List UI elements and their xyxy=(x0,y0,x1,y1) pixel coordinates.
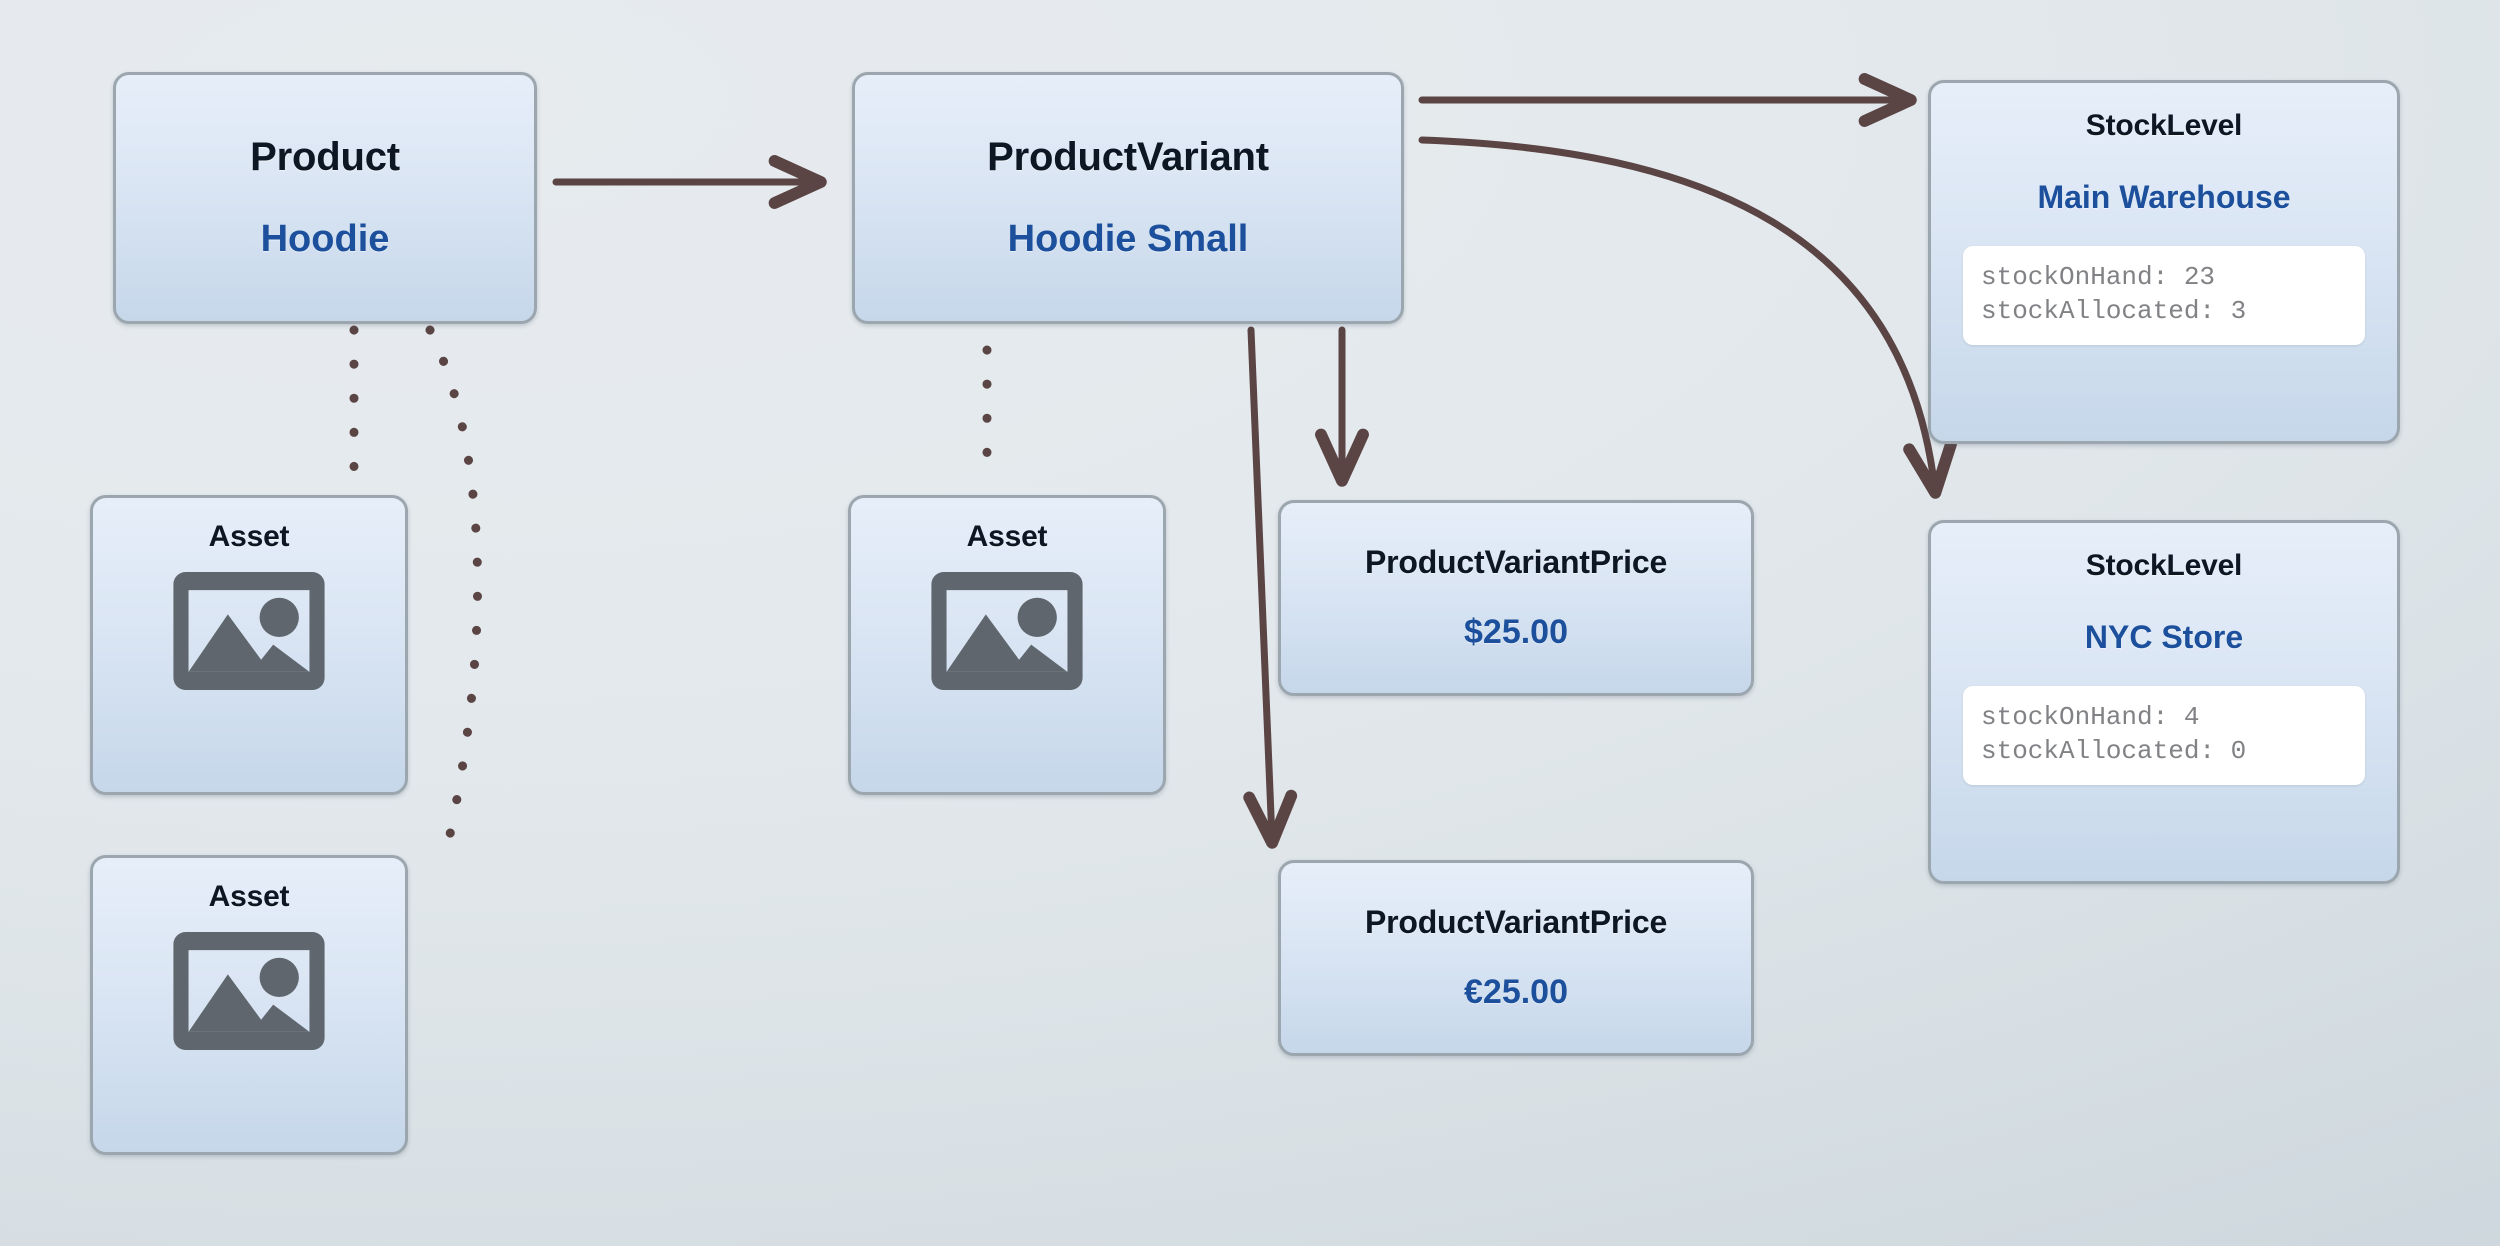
edge-product-to-asset-2 xyxy=(430,330,478,866)
stock-allocated-value: stockAllocated: 3 xyxy=(1981,294,2347,328)
image-placeholder-icon xyxy=(173,566,325,696)
diagram-canvas: Product Hoodie ProductVariant Hoodie Sma… xyxy=(0,0,2500,1246)
node-price-eur[interactable]: ProductVariantPrice €25.00 xyxy=(1278,860,1754,1056)
node-product[interactable]: Product Hoodie xyxy=(113,72,537,324)
image-placeholder-icon xyxy=(931,566,1083,696)
node-asset-product-2[interactable]: Asset xyxy=(90,855,408,1155)
node-price-eur-value: €25.00 xyxy=(1464,973,1568,1012)
node-stock-main-title: StockLevel xyxy=(2086,109,2242,143)
node-asset-variant-1-title: Asset xyxy=(967,520,1048,554)
node-stock-nyc-title: StockLevel xyxy=(2086,549,2242,583)
node-asset-variant-1[interactable]: Asset xyxy=(848,495,1166,795)
node-price-usd[interactable]: ProductVariantPrice $25.00 xyxy=(1278,500,1754,696)
stock-on-hand-value: stockOnHand: 4 xyxy=(1981,700,2347,734)
node-stock-nyc-detail: stockOnHand: 4 stockAllocated: 0 xyxy=(1963,686,2365,785)
stock-allocated-value: stockAllocated: 0 xyxy=(1981,734,2347,768)
image-placeholder-icon xyxy=(173,926,325,1056)
node-product-variant-value: Hoodie Small xyxy=(1008,218,1249,261)
node-product-title: Product xyxy=(250,135,400,180)
node-product-variant-title: ProductVariant xyxy=(987,135,1269,180)
node-asset-product-2-title: Asset xyxy=(209,880,290,914)
node-product-value: Hoodie xyxy=(261,218,390,261)
node-price-usd-title: ProductVariantPrice xyxy=(1365,544,1667,581)
node-stock-main-warehouse[interactable]: StockLevel Main Warehouse stockOnHand: 2… xyxy=(1928,80,2400,444)
node-stock-nyc-value: NYC Store xyxy=(2085,619,2243,656)
node-asset-product-1-title: Asset xyxy=(209,520,290,554)
edge-variant-to-stock-nyc xyxy=(1422,140,1935,490)
node-stock-main-value: Main Warehouse xyxy=(2037,179,2290,216)
node-stock-nyc-store[interactable]: StockLevel NYC Store stockOnHand: 4 stoc… xyxy=(1928,520,2400,884)
node-product-variant[interactable]: ProductVariant Hoodie Small xyxy=(852,72,1404,324)
stock-on-hand-value: stockOnHand: 23 xyxy=(1981,260,2347,294)
node-price-eur-title: ProductVariantPrice xyxy=(1365,904,1667,941)
node-asset-product-1[interactable]: Asset xyxy=(90,495,408,795)
node-price-usd-value: $25.00 xyxy=(1464,613,1568,652)
edge-variant-to-price-eur xyxy=(1251,330,1272,840)
node-stock-main-detail: stockOnHand: 23 stockAllocated: 3 xyxy=(1963,246,2365,345)
